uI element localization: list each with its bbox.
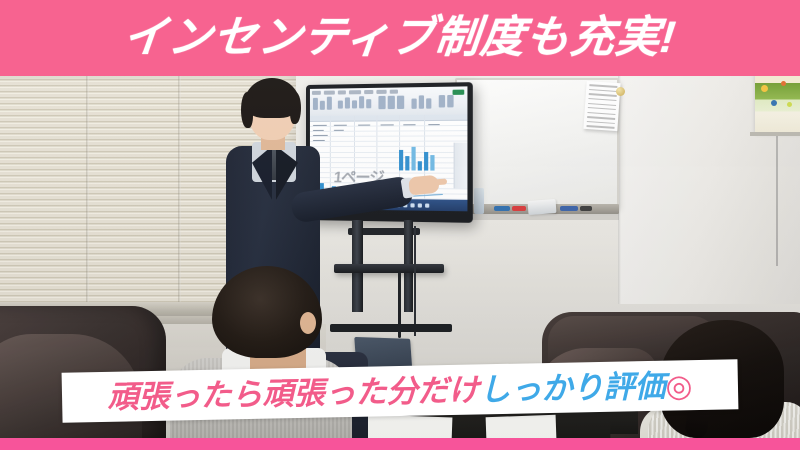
presenter-hair-side [241, 92, 253, 128]
spray-bottle [474, 188, 484, 214]
document-sheet [486, 415, 557, 438]
document-sheet [366, 415, 453, 438]
attendee-ear [300, 312, 316, 334]
bar-chart-right [399, 146, 435, 171]
app-badge [453, 90, 465, 95]
top-banner: インセンティブ制度も充実! [0, 0, 800, 76]
marker-navy [560, 206, 578, 211]
presenter-hair-side [290, 92, 301, 124]
blind-seam [178, 76, 181, 316]
poster-rail [750, 132, 800, 136]
ribbon-group [338, 96, 371, 109]
screenshot-root: インセンティブ制度も充実! [0, 0, 800, 450]
spreadsheet-scrollbar[interactable] [454, 143, 468, 189]
ribbon-tabs [312, 89, 398, 94]
ribbon-group [439, 95, 454, 108]
posted-paper [583, 81, 620, 131]
whiteboard-eraser [528, 199, 557, 215]
wall-poster [755, 76, 800, 132]
bottom-banner-text-pink-1: 頑張ったら頑張った分だけ [107, 374, 480, 412]
ribbon-group [313, 97, 332, 110]
bottom-pink-strip [0, 438, 800, 450]
presenter-pointing-finger [432, 178, 447, 185]
monitor-stand-shelf [334, 264, 444, 273]
ribbon-group [411, 95, 431, 109]
marker-red [512, 206, 526, 211]
blind-seam [86, 76, 89, 316]
whiteboard-tray-shadow [451, 214, 619, 220]
bottom-banner-text-pink-2: ◎ [665, 370, 693, 402]
poster-wire [776, 136, 778, 266]
marker-blue [494, 206, 510, 211]
top-banner-text: インセンティブ制度も充実! [121, 16, 679, 60]
magnet [616, 87, 625, 96]
monitor-stand-base [330, 324, 452, 332]
bottom-banner-text-blue: しっかり評価 [479, 370, 666, 405]
ribbon-group [378, 96, 404, 110]
monitor-cable [414, 226, 416, 336]
spreadsheet-ribbon [310, 86, 468, 117]
marker-black [580, 206, 592, 211]
